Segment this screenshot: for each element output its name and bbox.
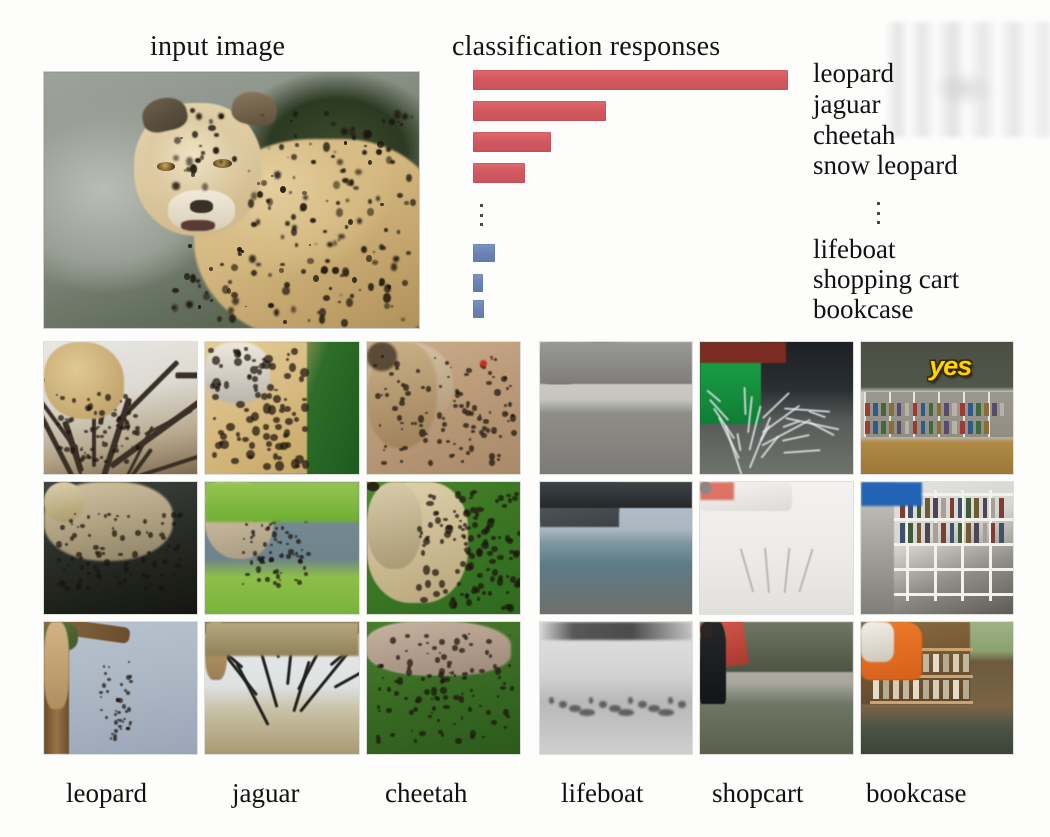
classification-bar-chart: leopardjaguarcheetahsnow leopardlifeboat… [473, 62, 1033, 322]
bar-label-jaguar: jaguar [813, 89, 880, 120]
thumbnail-cheetah-with-prey [367, 622, 520, 754]
bottom-label-shopcart: shopcart [712, 778, 803, 809]
thumbnail-grid-animals [44, 342, 520, 754]
input-image-photo [44, 72, 419, 328]
labels-ellipsis-icon [877, 202, 881, 224]
figure-canvas: input image classification responses leo… [0, 0, 1050, 837]
thumbnail-cheetah-in-green-field [367, 482, 520, 614]
thumbnail-grid-objects: yes [540, 342, 1013, 754]
thumbnail-leopard-in-tree [44, 342, 197, 474]
thumbnail-lifeboat-black-inflatable [540, 342, 692, 474]
bar-label-lifeboat: lifeboat [813, 234, 895, 265]
bar-bookcase [473, 300, 484, 318]
thumbnail-lifeboat-greyscale-sea [540, 622, 692, 754]
bar-lifeboat [473, 244, 495, 262]
thumbnail-bookcase-with-yes-overlay: yes [861, 342, 1013, 474]
bottom-label-bookcase: bookcase [866, 778, 966, 809]
bar-label-cheetah: cheetah [813, 120, 895, 151]
thumbnail-jaguar-cub-in-grass [205, 482, 358, 614]
thumbnail-lifeboat-harbour-vessel [540, 482, 692, 614]
bar-label-shopping-cart: shopping cart [813, 264, 959, 295]
bar-jaguar [473, 101, 606, 121]
bottom-label-cheetah: cheetah [385, 778, 467, 809]
bottom-label-jaguar: jaguar [232, 778, 299, 809]
bar-label-bookcase: bookcase [813, 294, 913, 325]
bar-cheetah [473, 132, 551, 152]
page-title-classification-responses: classification responses [452, 31, 720, 63]
bottom-label-leopard: leopard [66, 778, 147, 809]
bar-leopard [473, 70, 788, 90]
thumbnail-shopcart-tangled-carts [700, 342, 852, 474]
bar-shopping-cart [473, 274, 483, 292]
bar-label-snow-leopard: snow leopard [813, 150, 958, 181]
thumbnail-shopcart-white-cart [700, 482, 852, 614]
page-title-input-image: input image [150, 31, 285, 63]
thumbnail-bookcase-white-shelves [861, 482, 1013, 614]
thumbnail-bookcase-person-orange [861, 622, 1013, 754]
bars-ellipsis-icon [480, 204, 484, 226]
thumbnail-leopard-lying-on-rock [44, 482, 197, 614]
yes-overlay-text: yes [929, 351, 971, 382]
thumbnail-jaguar-closeup-greenery [205, 342, 358, 474]
bar-snow-leopard [473, 163, 525, 183]
bar-label-leopard: leopard [813, 58, 894, 89]
thumbnail-leopard-climbing-trunk [44, 622, 197, 754]
thumbnail-cheetahs-on-sand [367, 342, 520, 474]
thumbnail-jaguar-bare-tree [205, 622, 358, 754]
bottom-label-lifeboat: lifeboat [561, 778, 643, 809]
thumbnail-shopcart-people-red-cart [700, 622, 852, 754]
